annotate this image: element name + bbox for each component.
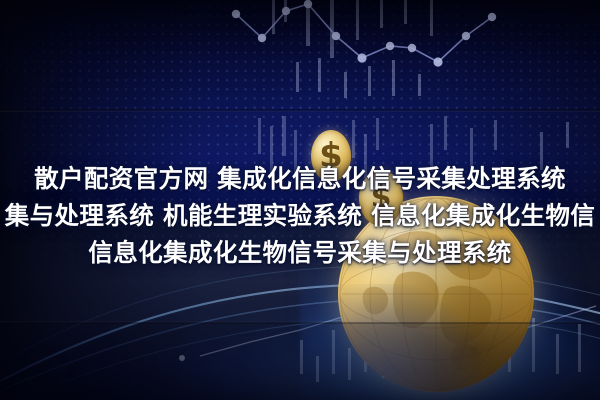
- headline-line-2: 集与处理系统 机能生理实验系统 信息化集成化生物信: [0, 197, 600, 234]
- promo-banner: $ $ 散户配资官方网 集成化信息化信号采集处理系统 集与处理系统 机能生理实验…: [0, 0, 600, 400]
- headline-line-3: 信息化集成化生物信号采集与处理系统: [0, 234, 600, 271]
- band-shade-top: [0, 0, 600, 110]
- band-shade-bottom: [0, 322, 600, 400]
- headline-line-1: 散户配资官方网 集成化信息化信号采集处理系统: [0, 160, 600, 197]
- band-seam-upper: [0, 109, 600, 112]
- headline-block: 散户配资官方网 集成化信息化信号采集处理系统 集与处理系统 机能生理实验系统 信…: [0, 160, 600, 271]
